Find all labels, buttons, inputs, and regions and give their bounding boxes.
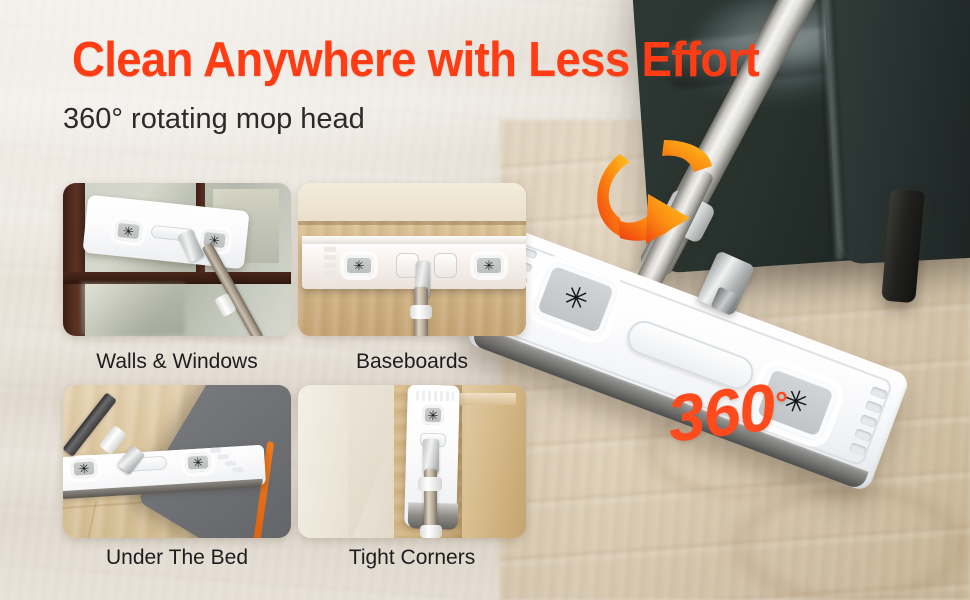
feature-thumbnail-under-the-bed[interactable]	[63, 385, 291, 538]
product-feature-banner: 360° Clean Anywhere with Less Effort 360…	[0, 0, 970, 600]
feature-thumbnail-tight-corners[interactable]	[298, 385, 526, 538]
360-degree-callout: 360°	[664, 372, 792, 452]
feature-thumbnail-baseboards[interactable]	[298, 183, 526, 336]
thumbnail-photo	[63, 385, 291, 538]
thumbnail-caption: Baseboards	[298, 350, 526, 374]
feature-thumbnail-walls-and-windows[interactable]	[63, 183, 291, 336]
circular-rotation-arrow-icon	[586, 132, 718, 258]
thumbnail-caption: Tight Corners	[298, 546, 526, 570]
thumbnail-photo	[63, 183, 291, 336]
thumbnail-photo	[298, 183, 526, 336]
page-title: Clean Anywhere with Less Effort	[72, 36, 759, 85]
page-subtitle: 360° rotating mop head	[63, 104, 365, 136]
thumbnail-caption: Walls & Windows	[63, 350, 291, 374]
thumbnail-photo	[298, 385, 526, 538]
callout-number: 360	[663, 369, 778, 456]
thumbnail-caption: Under The Bed	[63, 546, 291, 570]
